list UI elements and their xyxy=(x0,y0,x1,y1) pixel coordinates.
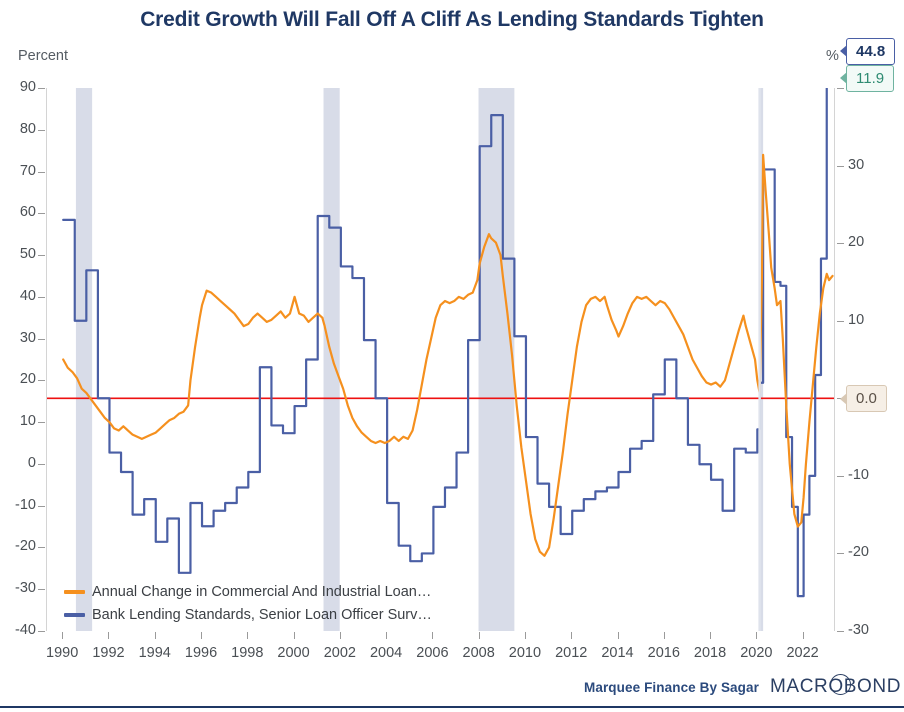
tick-mark xyxy=(38,547,45,548)
tick-mark xyxy=(756,632,757,639)
legend-label-standards: Bank Lending Standards, Senior Loan Offi… xyxy=(92,607,432,623)
tick-mark xyxy=(837,631,844,632)
tick-mark xyxy=(38,297,45,298)
tick-mark xyxy=(38,506,45,507)
callout-value: 0.0 xyxy=(856,390,877,407)
tick-mark xyxy=(837,88,844,89)
tick-mark xyxy=(38,339,45,340)
tick-mark xyxy=(38,130,45,131)
footer-credit: Marquee Finance By Sagar xyxy=(584,680,759,695)
series-line-loans xyxy=(63,155,832,556)
y-tick-right--10: -10 xyxy=(848,467,888,483)
recession-band xyxy=(479,88,515,631)
x-tick-1996: 1996 xyxy=(176,645,226,661)
legend: Annual Change in Commercial And Industri… xyxy=(64,580,432,626)
page-title: Credit Growth Will Fall Off A Cliff As L… xyxy=(0,8,904,32)
tick-mark xyxy=(571,632,572,639)
y-tick-left-20: 20 xyxy=(2,371,36,387)
y-tick-left-30: 30 xyxy=(2,330,36,346)
callout-pointer-icon xyxy=(840,72,847,84)
y-tick-left-80: 80 xyxy=(2,121,36,137)
bottom-rule xyxy=(0,706,904,708)
tick-mark xyxy=(837,476,844,477)
x-tick-2004: 2004 xyxy=(361,645,411,661)
legend-item-standards[interactable]: Bank Lending Standards, Senior Loan Offi… xyxy=(64,603,432,626)
series-line-standards xyxy=(63,88,832,596)
tick-mark xyxy=(38,213,45,214)
x-tick-2000: 2000 xyxy=(269,645,319,661)
tick-mark xyxy=(837,321,844,322)
x-tick-2022: 2022 xyxy=(778,645,828,661)
brand-ring-icon xyxy=(830,674,851,695)
tick-mark xyxy=(432,632,433,639)
x-tick-2008: 2008 xyxy=(454,645,504,661)
y-tick-left--20: -20 xyxy=(2,538,36,554)
tick-mark xyxy=(837,166,844,167)
y-tick-right-10: 10 xyxy=(848,312,888,328)
tick-mark xyxy=(108,632,109,639)
x-tick-2006: 2006 xyxy=(407,645,457,661)
callout-value: 44.8 xyxy=(856,43,885,60)
legend-item-loans[interactable]: Annual Change in Commercial And Industri… xyxy=(64,580,432,603)
y-tick-right-30: 30 xyxy=(848,157,888,173)
recession-band xyxy=(76,88,92,631)
x-tick-2012: 2012 xyxy=(546,645,596,661)
x-tick-1994: 1994 xyxy=(130,645,180,661)
chart-root: Credit Growth Will Fall Off A Cliff As L… xyxy=(0,0,904,712)
tick-mark xyxy=(38,422,45,423)
macrobond-logo: MACROBOND xyxy=(770,676,901,698)
tick-mark xyxy=(710,632,711,639)
callout-loans-value: 11.9 xyxy=(846,65,894,92)
tick-mark xyxy=(155,632,156,639)
x-tick-2002: 2002 xyxy=(315,645,365,661)
tick-mark xyxy=(201,632,202,639)
callout-pointer-icon xyxy=(840,45,847,57)
y-tick-left-10: 10 xyxy=(2,413,36,429)
x-tick-2020: 2020 xyxy=(731,645,781,661)
tick-mark xyxy=(38,255,45,256)
callout-value: 11.9 xyxy=(856,70,884,87)
tick-mark xyxy=(479,632,480,639)
x-tick-2018: 2018 xyxy=(685,645,735,661)
x-tick-1998: 1998 xyxy=(222,645,272,661)
tick-mark xyxy=(618,632,619,639)
tick-mark xyxy=(38,172,45,173)
y-tick-left--30: -30 xyxy=(2,580,36,596)
y-tick-left-90: 90 xyxy=(2,79,36,95)
tick-mark xyxy=(803,632,804,639)
tick-mark xyxy=(386,632,387,639)
y-tick-left--10: -10 xyxy=(2,497,36,513)
tick-mark xyxy=(38,464,45,465)
x-tick-1990: 1990 xyxy=(37,645,87,661)
x-tick-2016: 2016 xyxy=(639,645,689,661)
legend-swatch-loans xyxy=(64,590,85,594)
tick-mark xyxy=(62,632,63,639)
tick-mark xyxy=(38,380,45,381)
y-tick-left-60: 60 xyxy=(2,204,36,220)
tick-mark xyxy=(247,632,248,639)
y-tick-right-20: 20 xyxy=(848,234,888,250)
left-axis-unit-label: Percent xyxy=(18,48,68,64)
y-tick-right--30: -30 xyxy=(848,622,888,638)
y-tick-left-40: 40 xyxy=(2,288,36,304)
tick-mark xyxy=(38,631,45,632)
y-tick-right--20: -20 xyxy=(848,544,888,560)
tick-mark xyxy=(664,632,665,639)
tick-mark xyxy=(38,88,45,89)
y-tick-left--40: -40 xyxy=(2,622,36,638)
y-tick-left-70: 70 xyxy=(2,163,36,179)
legend-label-loans: Annual Change in Commercial And Industri… xyxy=(92,584,431,600)
callout-standards-value: 44.8 xyxy=(846,38,895,65)
callout-pointer-icon xyxy=(840,393,847,405)
plot-area xyxy=(46,88,835,631)
tick-mark xyxy=(837,553,844,554)
right-axis-unit-label: % xyxy=(826,48,839,64)
tick-mark xyxy=(294,632,295,639)
legend-swatch-standards xyxy=(64,613,85,617)
tick-mark xyxy=(525,632,526,639)
plot-svg xyxy=(47,88,834,631)
x-tick-1992: 1992 xyxy=(83,645,133,661)
recession-band xyxy=(323,88,339,631)
y-tick-left-50: 50 xyxy=(2,246,36,262)
tick-mark xyxy=(837,243,844,244)
x-tick-2010: 2010 xyxy=(500,645,550,661)
callout-zero-value: 0.0 xyxy=(846,385,887,412)
x-tick-2014: 2014 xyxy=(593,645,643,661)
y-tick-left-0: 0 xyxy=(2,455,36,471)
tick-mark xyxy=(38,589,45,590)
tick-mark xyxy=(340,632,341,639)
